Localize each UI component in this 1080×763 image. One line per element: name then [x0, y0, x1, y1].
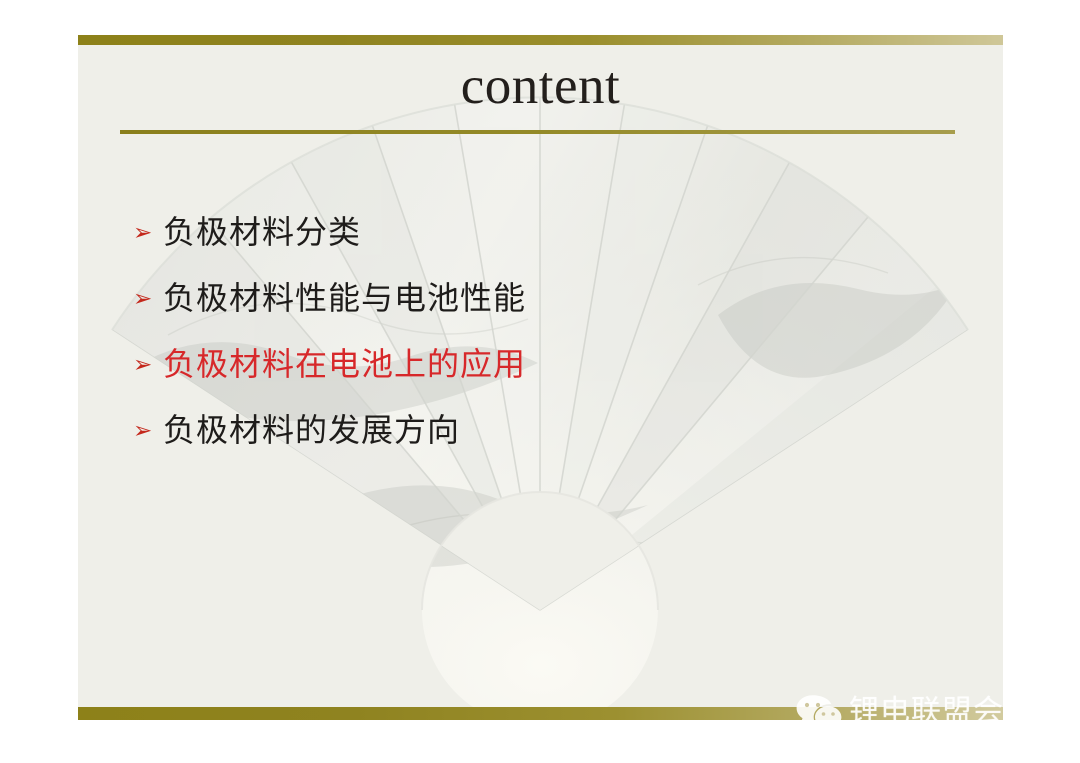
- list-item[interactable]: ➢ 负极材料的发展方向: [133, 398, 953, 464]
- list-item-label: 负极材料性能与电池性能: [163, 281, 526, 316]
- list-item[interactable]: ➢ 负极材料分类: [133, 200, 953, 266]
- bottom-accent-bar: [78, 707, 1003, 720]
- page-title: content: [78, 60, 1003, 113]
- list-item-label: 负极材料的发展方向: [163, 413, 460, 448]
- list-item-label: 负极材料在电池上的应用: [163, 347, 526, 382]
- list-item[interactable]: ➢ 负极材料性能与电池性能: [133, 266, 953, 332]
- list-item[interactable]: ➢ 负极材料在电池上的应用: [133, 332, 953, 398]
- content-outline-list: ➢ 负极材料分类 ➢ 负极材料性能与电池性能 ➢ 负极材料在电池上的应用 ➢ 负…: [133, 200, 953, 464]
- slide-canvas: content ➢ 负极材料分类 ➢ 负极材料性能与电池性能 ➢ 负极材料在电池…: [78, 35, 1003, 720]
- arrow-bullet-icon: ➢: [133, 420, 163, 443]
- top-accent-bar: [78, 35, 1003, 45]
- title-divider: [120, 130, 955, 134]
- arrow-bullet-icon: ➢: [133, 222, 163, 245]
- arrow-bullet-icon: ➢: [133, 288, 163, 311]
- arrow-bullet-icon: ➢: [133, 354, 163, 377]
- list-item-label: 负极材料分类: [163, 215, 361, 250]
